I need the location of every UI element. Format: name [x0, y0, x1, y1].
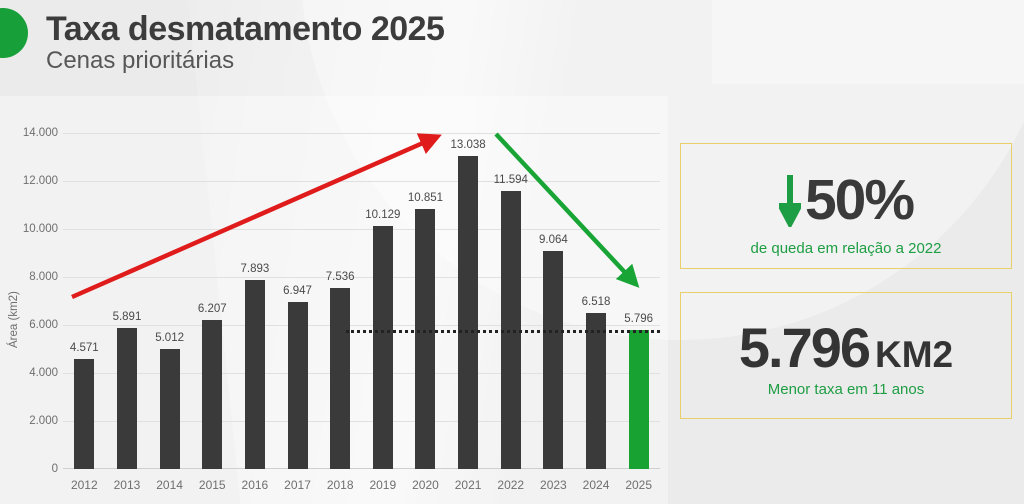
kpi-value-row: 5.796KM2 — [681, 315, 1011, 380]
arrow-down-icon — [779, 175, 801, 227]
kpi-value-unit: KM2 — [875, 334, 953, 375]
x-axis-tick-2025: 2025 — [625, 478, 652, 492]
x-axis-tick-2023: 2023 — [540, 478, 567, 492]
kpi-drop-caption: de queda em relação a 2022 — [681, 240, 1011, 257]
x-axis-tick-2022: 2022 — [497, 478, 524, 492]
trend-up-arrow — [72, 139, 432, 297]
kpi-drop-number: 50 — [805, 168, 864, 232]
x-axis-tick-2014: 2014 — [156, 478, 183, 492]
x-axis-tick-2013: 2013 — [114, 478, 141, 492]
kpi-drop-value: 50% — [805, 172, 913, 229]
x-axis-tick-2019: 2019 — [369, 478, 396, 492]
kpi-drop-row: 50% — [681, 172, 1011, 229]
trend-down-arrow — [496, 134, 632, 280]
kpi-drop-unit: % — [864, 168, 913, 232]
infographic-root: Taxa desmatamento 2025 Cenas prioritária… — [0, 0, 1024, 504]
kpi-card-drop[interactable]: 50% de queda em relação a 2022 — [680, 143, 1012, 269]
trend-annotations — [0, 96, 668, 504]
background-panel-top-right — [712, 0, 1024, 84]
bar-chart: Área (km2) 02.0004.0006.0008.00010.00012… — [0, 96, 668, 504]
x-axis-tick-2021: 2021 — [455, 478, 482, 492]
x-axis-tick-2015: 2015 — [199, 478, 226, 492]
kpi-card-value[interactable]: 5.796KM2 Menor taxa em 11 anos — [680, 292, 1012, 419]
kpi-value-caption: Menor taxa em 11 anos — [681, 381, 1011, 398]
x-axis-tick-2020: 2020 — [412, 478, 439, 492]
x-axis-tick-2012: 2012 — [71, 478, 98, 492]
kpi-value-number: 5.796 — [739, 316, 869, 379]
x-axis-tick-2017: 2017 — [284, 478, 311, 492]
x-axis-tick-2016: 2016 — [242, 478, 269, 492]
page-subtitle: Cenas prioritárias — [46, 47, 234, 75]
x-axis-tick-2018: 2018 — [327, 478, 354, 492]
x-axis-tick-2024: 2024 — [583, 478, 610, 492]
page-title: Taxa desmatamento 2025 — [46, 10, 444, 49]
